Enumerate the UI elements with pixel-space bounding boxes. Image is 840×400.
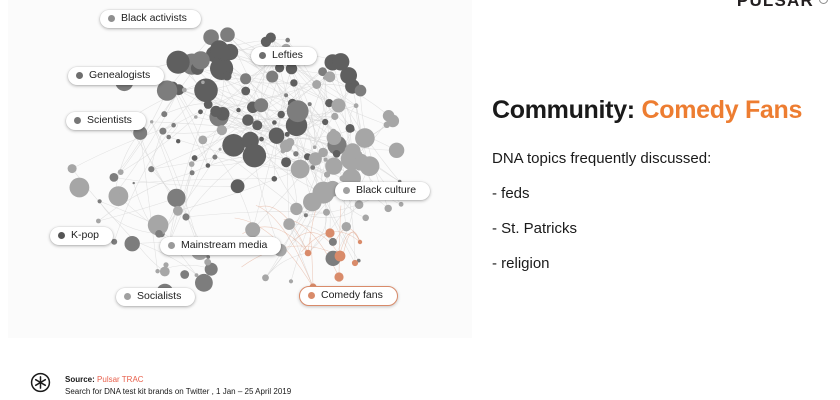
network-graph-canvas — [8, 0, 472, 338]
brand-logo-text: PULSAR — [737, 0, 814, 11]
page-title: Community: Comedy Fans — [492, 96, 822, 124]
topic-item: - feds — [492, 185, 822, 203]
source-label: Source: — [65, 375, 95, 384]
footer: Source: Pulsar TRAC Search for DNA test … — [30, 372, 291, 398]
cluster-dot-icon — [76, 72, 83, 79]
cluster-dot-icon — [58, 232, 65, 239]
source-value: Pulsar TRAC — [97, 375, 144, 384]
cluster-dot-icon — [308, 292, 315, 299]
community-copy-panel: Community: Comedy Fans DNA topics freque… — [492, 96, 822, 290]
cluster-label-text: K-pop — [71, 230, 99, 242]
cluster-label-comedy-fans[interactable]: Comedy fans — [299, 286, 398, 306]
cluster-label-k-pop[interactable]: K-pop — [50, 227, 113, 245]
footer-description: Search for DNA test kit brands on Twitte… — [65, 386, 291, 398]
brand-logo: PULSAR — [737, 0, 828, 11]
cluster-dot-icon — [259, 52, 266, 59]
cluster-label-black-activists[interactable]: Black activists — [100, 10, 201, 28]
cluster-label-text: Mainstream media — [181, 240, 267, 252]
headline-prefix: Community: — [492, 96, 635, 124]
cluster-label-mainstream-media[interactable]: Mainstream media — [160, 237, 281, 255]
cluster-dot-icon — [343, 187, 350, 194]
cluster-label-text: Genealogists — [89, 70, 150, 82]
cluster-dot-icon — [74, 117, 81, 124]
cluster-label-text: Lefties — [272, 50, 303, 62]
cluster-label-text: Scientists — [87, 115, 132, 127]
circle-mark-icon — [819, 0, 828, 4]
cluster-label-text: Black activists — [121, 13, 187, 25]
cluster-label-lefties[interactable]: Lefties — [251, 47, 317, 65]
footer-text: Source: Pulsar TRAC Search for DNA test … — [65, 374, 291, 398]
topic-item: - St. Patricks — [492, 220, 822, 238]
footer-source-line: Source: Pulsar TRAC — [65, 374, 291, 386]
cluster-dot-icon — [108, 15, 115, 22]
cluster-label-text: Socialists — [137, 291, 181, 303]
cluster-label-scientists[interactable]: Scientists — [66, 112, 146, 130]
cluster-dot-icon — [168, 242, 175, 249]
cluster-label-text: Black culture — [356, 185, 416, 197]
cluster-label-black-culture[interactable]: Black culture — [335, 182, 430, 200]
topics-intro: DNA topics frequently discussed: — [492, 150, 822, 168]
cluster-dot-icon — [124, 293, 131, 300]
headline-accent: Comedy Fans — [641, 96, 802, 124]
asterisk-circle-icon — [30, 372, 51, 393]
cluster-label-text: Comedy fans — [321, 290, 383, 302]
cluster-label-genealogists[interactable]: Genealogists — [68, 67, 164, 85]
cluster-label-socialists[interactable]: Socialists — [116, 288, 195, 306]
community-network-graph: Black activists Lefties Genealogists Sci… — [8, 0, 472, 338]
topic-item: - religion — [492, 255, 822, 273]
